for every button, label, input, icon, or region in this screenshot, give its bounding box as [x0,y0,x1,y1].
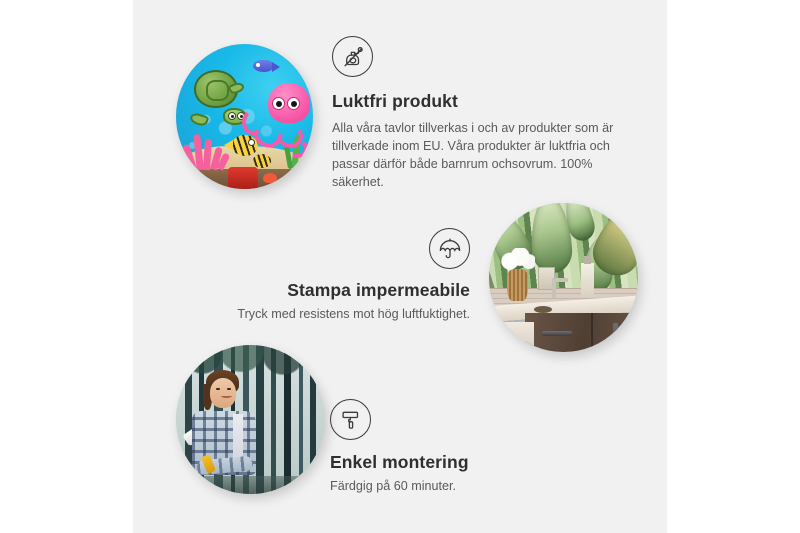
feature-odour-free: Luktfri produkt Alla våra tavlor tillver… [332,36,632,192]
underwater-cartoon-circle-image [176,44,313,189]
soap-dispenser [581,263,594,297]
soap-dish [534,306,552,313]
feature-description: Alla våra tavlor tillverkas i och av pro… [332,120,616,192]
white-flowers [501,248,535,270]
feature-description: Tryck med resistens mot hög luftfuktighe… [225,306,470,324]
feature-title: Enkel montering [330,452,580,473]
yellow-striped-fish-2 [253,154,271,168]
blue-fish [253,60,273,72]
gold-vase [507,269,528,301]
product-feature-infographic: Luktfri produkt Alla våra tavlor tillver… [0,0,800,533]
faucet [552,278,556,298]
feature-title: Stampa impermeabile [225,280,470,301]
umbrella-icon [429,228,470,269]
woman-paint-roller-forest-circle-image [176,345,325,494]
shipwreck-detail [228,167,258,189]
feature-description: Färdgig på 60 minuter. [330,478,580,496]
wood-vanity-cabinet [525,313,638,352]
woman-eye-right [227,388,231,390]
counter-left-edge [489,322,534,352]
octopus-body [268,83,310,123]
feature-easy-mounting: Enkel montering Färdgig på 60 minuter. [330,399,580,496]
bathroom-tropical-wallpaper-circle-image [489,203,638,352]
cabinet-handle [613,323,618,352]
paint-roller-icon [330,399,371,440]
forest-canopy [176,345,325,393]
no-perfume-icon [332,36,373,77]
feature-title: Luktfri produkt [332,91,632,112]
forest-ground [176,476,325,494]
woman-face [210,378,236,408]
crab [263,173,277,183]
drawer-handle [542,331,572,336]
feature-waterproof-print: Stampa impermeabile Tryck med resistens … [225,228,470,324]
